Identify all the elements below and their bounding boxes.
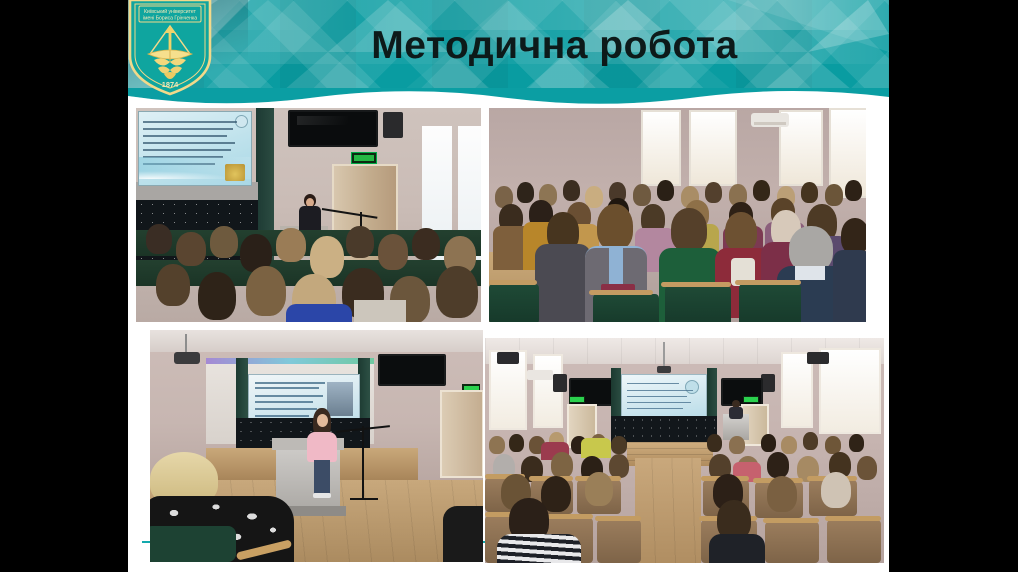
photo-top-right[interactable]: Seated audience of teachers in a confere… [489,108,866,322]
photo-bottom-right[interactable]: Wide view of a large auditorium filled w… [485,338,884,563]
slide-header-banner: Київський університет імені Бориса Грінч… [128,0,889,104]
page-title-text: Методична робота [279,24,737,67]
emblem-line1: Київський університет [144,8,197,15]
presenter-figure [305,408,339,496]
emblem-line2: імені Бориса Грінченка [143,15,197,21]
projection-screen [138,111,252,186]
photo-top-left[interactable]: Lecture hall with speaker at lectern and… [136,108,481,322]
presentation-slide: Київський університет імені Бориса Грінч… [128,0,889,572]
emblem-year: 1874 [162,80,179,89]
photo-bottom-left[interactable]: Presenter in pink sweater speaking at a … [150,330,483,562]
banner-wave-edge [128,88,889,104]
screenshot-root: Київський університет імені Бориса Грінч… [0,0,1018,572]
page-title: Методична робота [128,24,889,68]
